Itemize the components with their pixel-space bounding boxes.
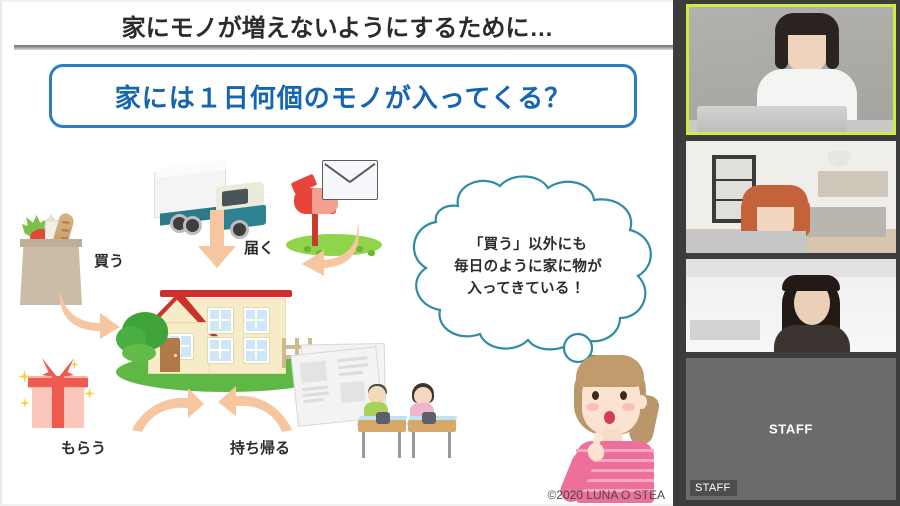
students-illustration	[354, 382, 464, 460]
thought-line-1: 「買う」以外にも	[422, 234, 634, 256]
grass-tuft	[368, 250, 375, 256]
gift-box-illustration	[18, 354, 96, 432]
thought-bubble: 「買う」以外にも 毎日のように家に物が 入ってきている ！	[388, 172, 668, 367]
desk-leg	[398, 432, 401, 458]
thinking-girl-illustration	[558, 347, 673, 506]
title-divider	[14, 45, 673, 50]
label-deliver: 届く	[244, 237, 274, 258]
school-bag	[376, 412, 390, 424]
label-buy: 買う	[94, 250, 124, 271]
house-window	[244, 338, 269, 363]
thought-line-2: 毎日のように家に物が	[422, 256, 634, 278]
newspaper-line	[303, 391, 329, 397]
thought-bubble-text: 「買う」以外にも 毎日のように家に物が 入ってきている ！	[422, 234, 634, 300]
envelope-icon	[322, 160, 378, 200]
house-window	[244, 308, 269, 333]
screen-share-meeting-view: 家にモノが増えないようにするために… 家には１日何個のモノが入ってくる？ 買う	[0, 0, 900, 506]
page-title: 家にモノが増えないようにするために…	[2, 6, 673, 44]
arrow-truck-to-house	[198, 210, 238, 270]
participant-tile-1[interactable]	[686, 4, 896, 135]
paper-bag-fold	[20, 239, 82, 247]
copyright-notice: ©2020 LUNA O STEA	[547, 488, 665, 502]
thought-line-3: 入ってきている ！	[422, 278, 634, 300]
illustration-canvas: 買う もらう	[2, 132, 673, 506]
house-window	[208, 308, 233, 333]
newspaper-line	[339, 371, 363, 376]
label-bring-home: 持ち帰る	[230, 437, 290, 458]
sparkle-icon	[84, 388, 95, 399]
laptop-blur-strip	[690, 320, 760, 340]
shared-slide[interactable]: 家にモノが増えないようにするために… 家には１日何個のモノが入ってくる？ 買う	[0, 0, 673, 506]
participant-hair-side	[775, 29, 788, 69]
participant-center-name: STAFF	[686, 422, 896, 437]
participant-bangs	[782, 275, 840, 291]
arrow-mailbox-to-house	[302, 220, 362, 276]
participant-video-panel: STAFF STAFF	[673, 0, 900, 506]
newspaper-line	[302, 385, 328, 391]
newspaper-photo	[300, 361, 328, 384]
arrow-bring-home-to-house	[214, 382, 294, 434]
desk-leg	[448, 432, 451, 458]
girl-eye	[592, 391, 599, 400]
girl-cheek	[586, 403, 599, 411]
house-roof-ridge	[160, 290, 292, 297]
question-box: 家には１日何個のモノが入ってくる？	[49, 64, 637, 128]
newspaper-line	[338, 363, 368, 369]
girl-bangs	[576, 355, 644, 387]
laptop	[697, 106, 847, 132]
participant-hair-side	[826, 29, 839, 69]
door-mullion	[716, 179, 752, 181]
kitchen-counter	[800, 207, 886, 237]
ribbon-bow-left	[42, 358, 58, 378]
participant-tile-2[interactable]	[686, 141, 896, 253]
sparkle-icon	[20, 398, 30, 408]
question-box-text: 家には１日何個のモノが入ってくる？	[115, 78, 571, 115]
newspaper-line	[337, 356, 367, 362]
bush-icon	[122, 344, 156, 362]
ribbon-horizontal	[28, 378, 88, 387]
desk-leg	[362, 432, 365, 458]
participant-name-badge: STAFF	[690, 480, 737, 496]
arrow-receive-to-house	[130, 384, 206, 434]
school-bag	[422, 412, 436, 424]
girl-mouth	[604, 411, 615, 424]
laptop-blur-strip	[686, 231, 806, 253]
room-cabinet	[818, 171, 888, 197]
newspaper-line	[303, 398, 323, 403]
desk-leg	[412, 432, 415, 458]
truck-window	[222, 188, 248, 206]
arrow-buy-to-house	[54, 287, 124, 339]
house-window	[208, 338, 233, 363]
room-ceiling	[686, 259, 896, 277]
ribbon-bow-right	[58, 358, 74, 378]
participant-tile-4[interactable]: STAFF STAFF	[686, 358, 896, 500]
participant-torso	[774, 325, 850, 352]
girl-cheek	[622, 403, 635, 411]
participant-tile-3[interactable]	[686, 259, 896, 352]
label-receive: もらう	[61, 437, 106, 458]
girl-eye	[620, 391, 627, 400]
